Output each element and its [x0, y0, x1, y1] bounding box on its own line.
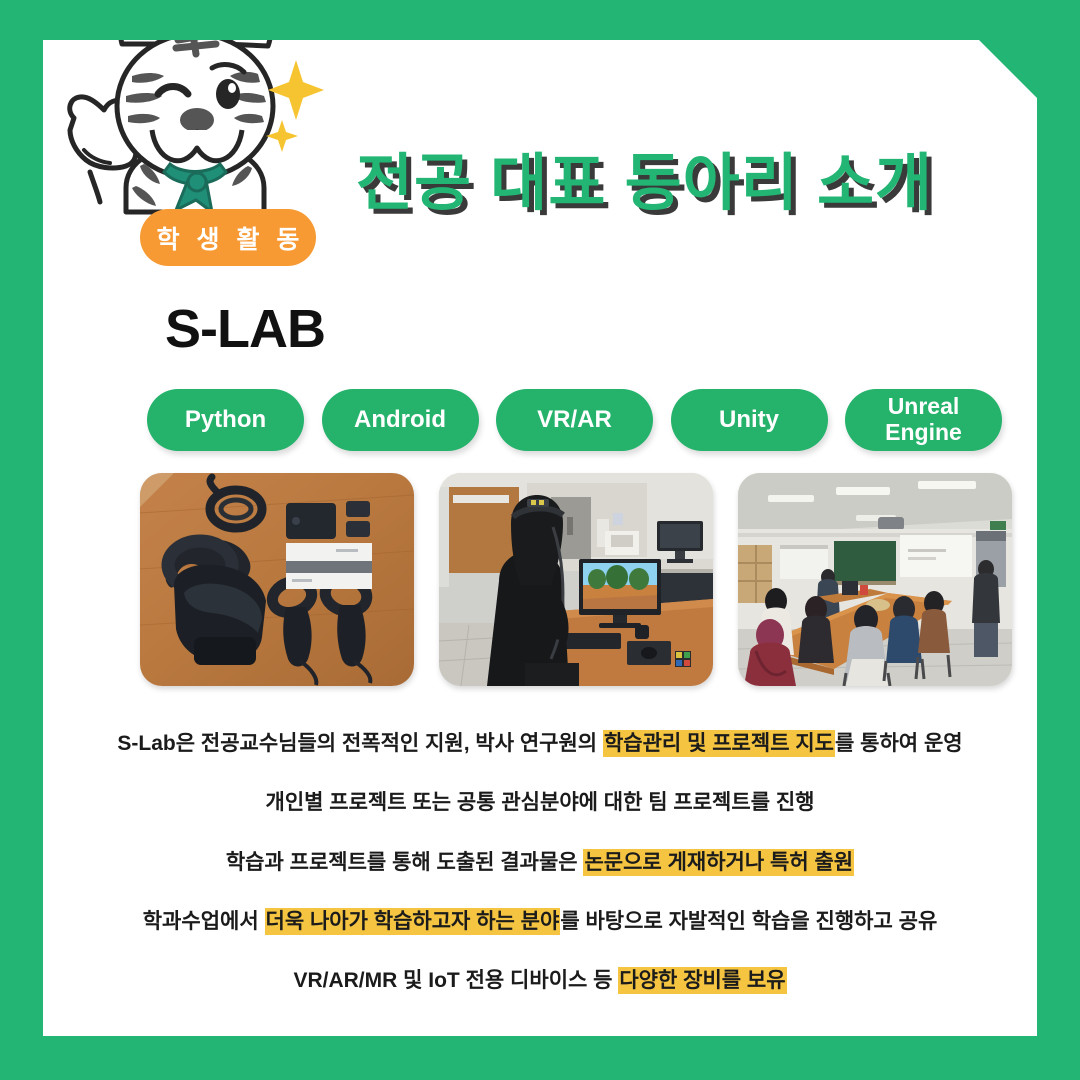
description-line-2: 개인별 프로젝트 또는 공통 관심분야에 대한 팀 프로젝트를 진행: [103, 789, 977, 816]
description-line-5: VR/AR/MR 및 IoT 전용 디바이스 등 다양한 장비를 보유: [103, 967, 977, 994]
tag-label: Unity: [719, 407, 779, 434]
desc-text: S-Lab은 전공교수님들의 전폭적인 지원, 박사 연구원의: [117, 732, 603, 755]
poster-card: 학 생 활 동 전공 대표 동아리 소개 S-LAB Python Androi…: [43, 40, 1037, 1036]
desc-text: 를 바탕으로 자발적인 학습을 진행하고 공유: [560, 910, 937, 933]
desc-text: 학습과 프로젝트를 통해 도출된 결과물은: [226, 851, 584, 874]
tiger-mascot-icon: [60, 2, 330, 242]
photo-seminar-room: [738, 473, 1012, 686]
desc-text: 를 통하여 운영: [835, 732, 963, 755]
tag-pill-unity[interactable]: Unity: [671, 389, 828, 451]
club-name: S-LAB: [165, 298, 325, 360]
description-line-1: S-Lab은 전공교수님들의 전폭적인 지원, 박사 연구원의 학습관리 및 프…: [103, 730, 977, 757]
tag-pill-android[interactable]: Android: [322, 389, 479, 451]
desc-text: VR/AR/MR 및 IoT 전용 디바이스 등: [293, 969, 618, 992]
page-title: 전공 대표 동아리 소개: [356, 132, 933, 222]
desc-highlight: 다양한 장비를 보유: [618, 967, 786, 994]
tag-label-line1: Unreal: [888, 393, 960, 419]
student-activity-badge: 학 생 활 동: [140, 209, 316, 266]
poster-header: 학 생 활 동 전공 대표 동아리 소개: [43, 40, 1037, 270]
photo-vr-equipment: [140, 473, 414, 686]
tag-pill-unreal-engine[interactable]: Unreal Engine: [845, 389, 1002, 451]
tag-pill-python[interactable]: Python: [147, 389, 304, 451]
photo-gallery: [140, 473, 1012, 686]
tag-label: VR/AR: [537, 407, 612, 434]
tag-label: Android: [354, 407, 446, 434]
description-line-3: 학습과 프로젝트를 통해 도출된 결과물은 논문으로 게재하거나 특허 출원: [103, 849, 977, 876]
tag-label: Python: [185, 407, 266, 434]
desc-highlight: 학습관리 및 프로젝트 지도: [603, 730, 835, 757]
desc-highlight: 더욱 나아가 학습하고자 하는 분야: [265, 908, 561, 935]
tech-tag-list: Python Android VR/AR Unity Unreal Engine: [147, 389, 1002, 451]
tag-label: Unreal Engine: [885, 394, 962, 446]
tag-label-line2: Engine: [885, 419, 962, 445]
desc-text: 개인별 프로젝트 또는 공통 관심분야에 대한 팀 프로젝트를 진행: [266, 791, 815, 814]
desc-highlight: 논문으로 게재하거나 특허 출원: [583, 849, 854, 876]
desc-text: 학과수업에서: [143, 910, 265, 933]
description-list: S-Lab은 전공교수님들의 전폭적인 지원, 박사 연구원의 학습관리 및 프…: [103, 730, 977, 994]
photo-student-vr-session: [439, 473, 713, 686]
tag-pill-vr-ar[interactable]: VR/AR: [496, 389, 653, 451]
description-line-4: 학과수업에서 더욱 나아가 학습하고자 하는 분야를 바탕으로 자발적인 학습을…: [103, 908, 977, 935]
